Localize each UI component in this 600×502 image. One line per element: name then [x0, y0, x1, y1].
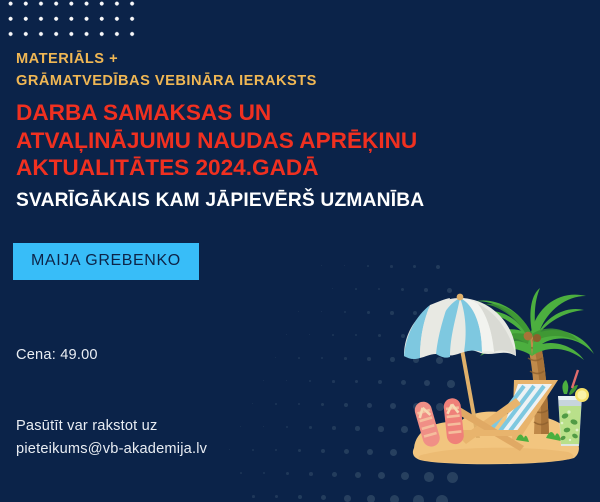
- coconut-icon: [533, 334, 541, 342]
- order-info: Pasūtīt var rakstot uz pieteikums@vb-aka…: [16, 415, 207, 461]
- mojito-drink-icon: [558, 370, 589, 446]
- order-info-line-1: Pasūtīt var rakstot uz: [16, 415, 207, 438]
- beach-scene-illustration: [398, 288, 598, 473]
- order-info-email: pieteikums@vb-akademija.lv: [16, 438, 207, 461]
- price-text: Cena: 49.00: [16, 347, 98, 363]
- subheadline-text: SVARĪGĀKAIS KAM JĀPIEVĒRŠ UZMANĪBA: [16, 189, 516, 212]
- eyebrow-line-2: GRĀMATVEDĪBAS VEBINĀRA IERAKSTS: [16, 70, 436, 92]
- mint-leaf-icon: [562, 380, 568, 394]
- page-title: DARBA SAMAKSAS UN ATVAĻINĀJUMU NAUDAS AP…: [16, 99, 486, 182]
- headline-line-3: AKTUALITĀTES 2024.GADĀ: [16, 154, 486, 182]
- coconut-icon: [524, 332, 533, 341]
- umbrella-finial-icon: [457, 294, 464, 301]
- headline-line-2: ATVAĻINĀJUMU NAUDAS APRĒĶINU: [16, 127, 486, 155]
- eyebrow-line-1: MATERIĀLS +: [16, 48, 436, 70]
- headline-line-1: DARBA SAMAKSAS UN: [16, 99, 486, 127]
- poster-canvas: MATERIĀLS + GRĀMATVEDĪBAS VEBINĀRA IERAK…: [0, 0, 600, 502]
- eyebrow-text: MATERIĀLS + GRĀMATVEDĪBAS VEBINĀRA IERAK…: [16, 48, 436, 92]
- speaker-name-badge: MAIJA GREBENKO: [13, 243, 199, 280]
